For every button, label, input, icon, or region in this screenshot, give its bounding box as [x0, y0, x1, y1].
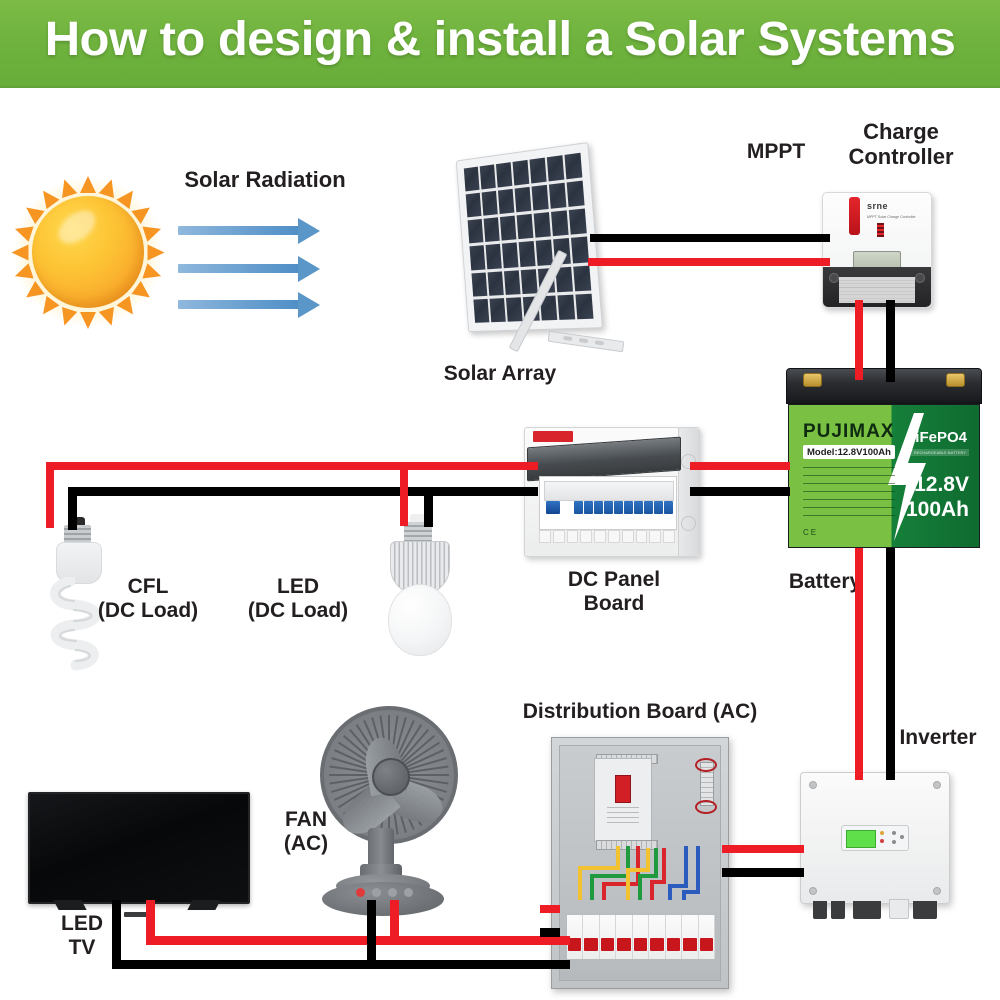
- stand-hole: [595, 340, 604, 345]
- battery-rating: 12.8V100Ah: [906, 473, 969, 523]
- wire-tv-positive: [146, 900, 155, 940]
- solar-cell: [506, 297, 523, 322]
- solar-cell: [549, 183, 567, 209]
- radiation-arrow-shaft: [178, 264, 300, 273]
- panel-slot: [622, 530, 634, 543]
- panel-breaker-switch[interactable]: [624, 501, 633, 514]
- inverter-switch[interactable]: [889, 899, 909, 919]
- db-ring-terminal: [695, 758, 717, 772]
- db-main-unit: [594, 758, 652, 842]
- solar-cell: [468, 219, 484, 244]
- battery-device: PUJIMAX Model:12.8V100Ah CE LiFePO4 RECH…: [786, 368, 982, 550]
- wire-tv-negative: [112, 900, 121, 964]
- panel-slot: [636, 530, 648, 543]
- solar-cell: [536, 240, 553, 266]
- solar-cell: [486, 244, 502, 269]
- sun-ray: [12, 245, 29, 261]
- db-main-print: [607, 807, 639, 825]
- db-mcb-row: [566, 914, 716, 960]
- wire-controller-to-battery-negative: [886, 300, 895, 382]
- solar-cell: [488, 271, 504, 296]
- db-mcb[interactable]: [600, 915, 616, 959]
- solar-cell: [547, 155, 565, 181]
- solar-cell: [521, 269, 538, 294]
- wire-led-negative: [424, 487, 433, 527]
- inverter-ac-connector: [913, 901, 937, 919]
- dc-panel-board-device: [524, 427, 700, 557]
- panel-breaker-switch[interactable]: [654, 501, 663, 514]
- solar-cell: [502, 243, 519, 268]
- inverter-device: [800, 772, 950, 904]
- db-ring-terminal: [695, 800, 717, 814]
- solar-cell: [496, 162, 512, 188]
- inverter-indicator: [880, 831, 884, 835]
- dc-bus-positive: [46, 462, 538, 470]
- tv-foot: [187, 900, 220, 910]
- wire-inverter-to-db-negative: [722, 868, 804, 877]
- db-mcb-handle[interactable]: [617, 938, 630, 951]
- panel-blank-slots: [539, 530, 675, 543]
- solar-cell: [504, 270, 521, 295]
- solar-cells: [464, 153, 594, 323]
- sun-ray: [148, 245, 165, 261]
- panel-slot: [608, 530, 620, 543]
- db-mcb-handle[interactable]: [700, 938, 713, 951]
- panel-breaker-switch[interactable]: [574, 501, 583, 514]
- wire-panel-to-controller-positive: [588, 258, 830, 266]
- radiation-arrow-shaft: [178, 226, 300, 235]
- radiation-arrow-head: [298, 256, 320, 282]
- battery-brand: PUJIMAX: [803, 421, 894, 443]
- inverter-lcd: [846, 830, 876, 848]
- sun-ray: [80, 176, 96, 193]
- battery-chemistry: LiFePO4: [906, 429, 967, 446]
- ac-bus-negative: [112, 960, 570, 969]
- inverter-button[interactable]: [900, 835, 904, 839]
- panel-breaker-switch[interactable]: [614, 501, 623, 514]
- solar-cell: [500, 216, 516, 241]
- fan-label: FAN (AC): [246, 808, 366, 855]
- ac-bus-positive: [146, 936, 570, 945]
- battery-top-cap: [786, 368, 982, 404]
- wire-db-left-positive: [540, 905, 560, 913]
- wire-led-positive: [400, 462, 408, 526]
- battery-certification: CE: [803, 528, 818, 537]
- fan-speed-button[interactable]: [404, 888, 413, 897]
- battery-chemistry-sub: RECHARGEABLE BATTERY: [911, 449, 969, 456]
- battery-label-face: PUJIMAX Model:12.8V100Ah CE LiFePO4 RECH…: [788, 404, 980, 548]
- screw-icon: [809, 781, 817, 789]
- battery-model: Model:12.8V100Ah: [803, 445, 895, 459]
- solar-cell: [471, 272, 487, 296]
- solar-array-label: Solar Array: [380, 362, 620, 386]
- infographic-canvas: How to design & install a Solar Systems …: [0, 0, 1000, 1000]
- solar-cell: [515, 187, 532, 213]
- panel-breaker-switch[interactable]: [584, 501, 593, 514]
- solar-cell: [490, 298, 506, 322]
- solar-cell: [466, 193, 482, 218]
- wire-db-left-negative: [540, 928, 560, 937]
- wire-inverter-to-db-positive: [722, 845, 804, 853]
- panel-cover-flap[interactable]: [527, 437, 681, 482]
- distribution-board-label: Distribution Board (AC): [470, 700, 810, 724]
- panel-busbar: [544, 481, 674, 501]
- wire-cfl-negative: [68, 487, 77, 530]
- solar-cell: [484, 218, 500, 243]
- db-mcb[interactable]: [699, 915, 715, 959]
- inverter-button[interactable]: [892, 840, 896, 844]
- db-mcb[interactable]: [583, 915, 599, 959]
- wire-cfl-positive: [46, 462, 54, 528]
- charge-controller-device: srne MPPT Solar Charge Controller: [822, 192, 932, 308]
- header-banner: How to design & install a Solar Systems: [0, 0, 1000, 88]
- solar-cell: [532, 185, 549, 211]
- db-mcb[interactable]: [666, 915, 682, 959]
- solar-cell: [534, 212, 551, 238]
- solar-cell: [513, 160, 530, 186]
- knockout-icon: [681, 516, 696, 531]
- solar-cell: [569, 209, 587, 235]
- db-mcb-handle[interactable]: [634, 938, 647, 951]
- inverter-display-panel: [841, 825, 909, 851]
- wire-controller-to-battery-positive: [855, 300, 863, 380]
- panel-breaker-switch[interactable]: [634, 501, 643, 514]
- battery-terminal-positive: [803, 373, 822, 387]
- wire-battery-to-dcpanel-positive: [690, 462, 790, 470]
- db-mcb-handle[interactable]: [650, 938, 663, 951]
- led-bulb-icon: [378, 522, 462, 658]
- inverter-connector-block: [853, 901, 881, 919]
- db-main-switch[interactable]: [615, 775, 631, 803]
- fan-speed-button[interactable]: [372, 888, 381, 897]
- inverter-indicator: [880, 839, 884, 843]
- db-mcb-handle[interactable]: [568, 938, 581, 951]
- solar-cell: [567, 181, 585, 208]
- battery-label: Battery: [745, 570, 905, 594]
- solar-cell: [571, 237, 589, 263]
- panel-brand-label: [533, 431, 573, 442]
- panel-breaker-area: [539, 476, 677, 530]
- inverter-button[interactable]: [892, 831, 896, 835]
- solar-cell: [470, 246, 486, 270]
- solar-cell: [564, 153, 582, 180]
- radiation-arrow-head: [298, 218, 320, 244]
- led-label: LED (DC Load): [218, 575, 378, 622]
- led-tv-label: LED TV: [22, 912, 142, 959]
- controller-brand: srne: [867, 201, 888, 211]
- db-mcb-handle[interactable]: [667, 938, 680, 951]
- solar-panel-body: [456, 142, 603, 332]
- solar-cell: [519, 241, 536, 266]
- db-mcb-handle[interactable]: [601, 938, 614, 951]
- screw-icon: [809, 887, 817, 895]
- led-diffuser-globe: [388, 584, 452, 656]
- page-title: How to design & install a Solar Systems: [0, 12, 1000, 67]
- solar-cell: [529, 158, 546, 184]
- tv-foot: [53, 900, 86, 910]
- sun-ray: [80, 312, 96, 329]
- screw-icon: [933, 781, 941, 789]
- fan-base: [322, 882, 444, 916]
- inverter-dc-connector: [813, 901, 827, 919]
- db-mcb-handle[interactable]: [683, 938, 696, 951]
- panel-slot: [539, 530, 551, 543]
- battery-spec-table: [803, 467, 895, 523]
- db-mcb[interactable]: [682, 915, 698, 959]
- controller-led-strip: [849, 197, 860, 235]
- dc-bus-negative: [68, 487, 538, 496]
- solar-cell: [575, 294, 593, 320]
- dc-panel-board-label: DC Panel Board: [514, 568, 714, 615]
- wire-panel-to-controller-negative: [590, 234, 830, 242]
- battery-terminal-negative: [946, 373, 965, 387]
- fan-hub: [372, 758, 410, 796]
- panel-main-breaker[interactable]: [546, 501, 560, 514]
- solar-cell: [480, 164, 496, 189]
- panel-breaker-switch[interactable]: [594, 501, 603, 514]
- wire-fan-negative: [367, 900, 376, 964]
- screw-icon: [829, 273, 839, 283]
- panel-slot: [594, 530, 606, 543]
- db-mcb[interactable]: [616, 915, 632, 959]
- screw-icon: [915, 273, 925, 283]
- controller-terminal-cover: [823, 267, 931, 307]
- controller-spec-label: [839, 277, 915, 303]
- wire-battery-to-dcpanel-negative: [690, 487, 790, 496]
- db-mcb[interactable]: [633, 915, 649, 959]
- panel-slot: [553, 530, 565, 543]
- tv-screen: [28, 792, 250, 904]
- cfl-label: CFL (DC Load): [68, 575, 228, 622]
- fan-power-button[interactable]: [356, 888, 365, 897]
- radiation-arrow-shaft: [178, 300, 300, 309]
- db-internal-wiring: [566, 846, 714, 910]
- fan-speed-button[interactable]: [388, 888, 397, 897]
- controller-subtitle: MPPT Solar Charge Controller: [867, 215, 916, 219]
- screw-icon: [933, 887, 941, 895]
- led-tv-icon: [28, 792, 246, 916]
- panel-slot: [567, 530, 579, 543]
- charge-controller-label: Charge Controller: [806, 120, 996, 169]
- solar-cell: [464, 167, 480, 192]
- panel-slot: [663, 530, 675, 543]
- solar-cell: [517, 214, 534, 239]
- panel-breaker-switch[interactable]: [664, 501, 673, 514]
- solar-cell: [498, 189, 514, 214]
- radiation-arrow-head: [298, 292, 320, 318]
- solar-cell: [482, 191, 498, 216]
- db-mcb-handle[interactable]: [584, 938, 597, 951]
- battery-capacity: 100Ah: [906, 498, 969, 521]
- battery-voltage: 12.8V: [914, 473, 969, 496]
- wire-battery-to-inverter-negative: [886, 548, 895, 780]
- panel-slot: [580, 530, 592, 543]
- panel-slot: [649, 530, 661, 543]
- stand-hole: [579, 338, 588, 343]
- wire-battery-to-inverter-positive: [855, 548, 863, 780]
- solar-cell: [557, 294, 575, 319]
- controller-leds: [877, 223, 884, 237]
- solar-cell: [551, 211, 569, 237]
- sun-icon: [8, 172, 168, 332]
- solar-cell-row: [471, 265, 591, 296]
- distribution-board-device: [551, 737, 729, 989]
- wire-fan-positive: [390, 900, 399, 940]
- solar-radiation-label: Solar Radiation: [150, 168, 380, 193]
- panel-breaker-switch[interactable]: [604, 501, 613, 514]
- panel-breaker-switch[interactable]: [644, 501, 653, 514]
- inverter-dc-connector: [831, 901, 845, 919]
- solar-cell: [473, 299, 489, 323]
- solar-cell: [573, 265, 591, 291]
- solar-panel-foot: [548, 331, 625, 352]
- db-mcb[interactable]: [649, 915, 665, 959]
- stand-hole: [563, 336, 572, 341]
